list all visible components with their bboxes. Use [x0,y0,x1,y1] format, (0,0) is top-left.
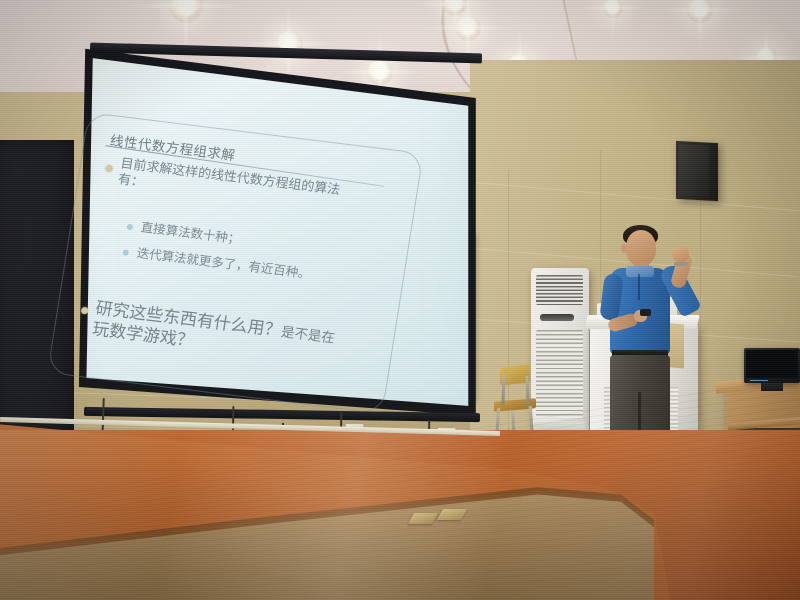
wall-speaker [676,141,718,201]
ac-body-grille [536,330,583,418]
lecture-hall-scene: 线性代数方程组求解 目前求解这样的线性代数方程组的算法 有： 直接算法数十种； … [0,0,800,600]
projection-screen: 线性代数方程组求解 目前求解这样的线性代数方程组的算法 有： 直接算法数十种； … [60,18,480,428]
presenter-ear [621,244,627,253]
chair-leg [501,374,505,404]
presenter-shirt-placket [638,274,640,300]
presenter-raised-fist [672,246,689,262]
light-core [692,2,708,17]
monitor-screen [746,350,798,378]
ac-top-grille [536,275,583,305]
presentation-clicker [640,309,651,316]
light-core [448,0,463,11]
light-core [607,2,619,14]
monitor-led-indicator [750,380,768,382]
slide-content: 线性代数方程组求解 目前求解这样的线性代数方程组的算法 有： 直接算法数十种； … [44,114,425,430]
presenter-collar [626,266,654,277]
ac-handle [540,314,574,321]
presenter-wristwatch [674,262,688,266]
light-core [175,0,196,16]
presenter-head [626,230,656,266]
